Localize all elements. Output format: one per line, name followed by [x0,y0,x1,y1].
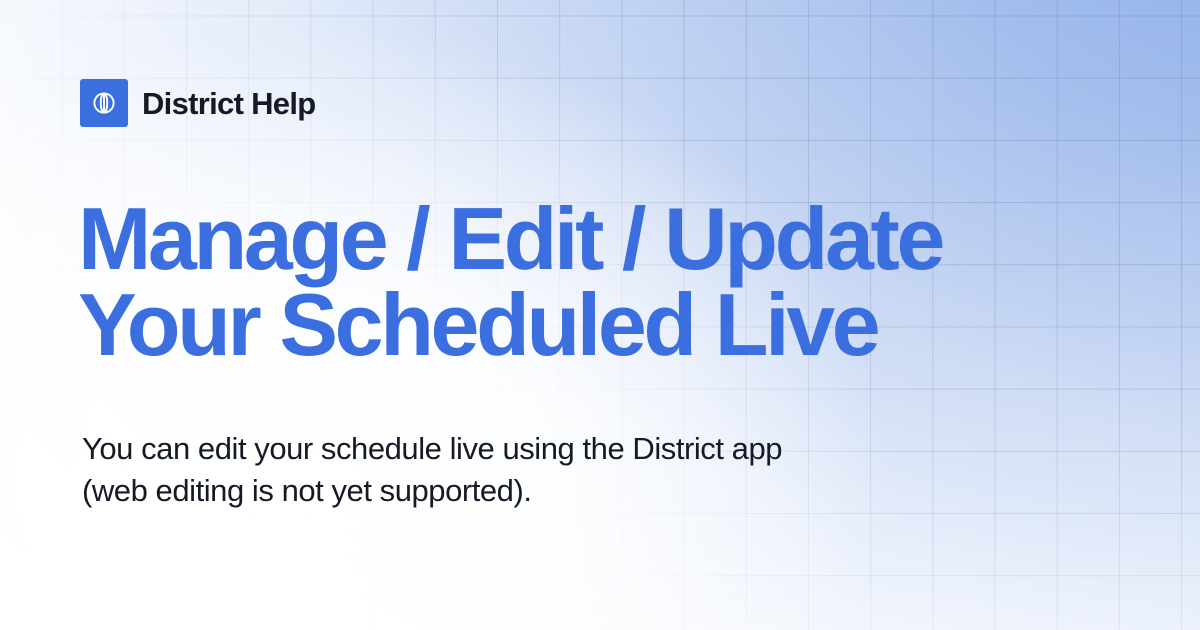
page-description: You can edit your schedule live using th… [82,428,812,513]
card-content: District Help Manage / Edit / Update You… [0,0,1200,630]
brand-name: District Help [142,88,316,119]
og-card: District Help Manage / Edit / Update You… [0,0,1200,630]
page-title: Manage / Edit / Update Your Scheduled Li… [78,196,1138,368]
globe-icon [89,88,119,118]
brand-lockup[interactable]: District Help [80,79,316,127]
brand-logo-badge [80,79,128,127]
